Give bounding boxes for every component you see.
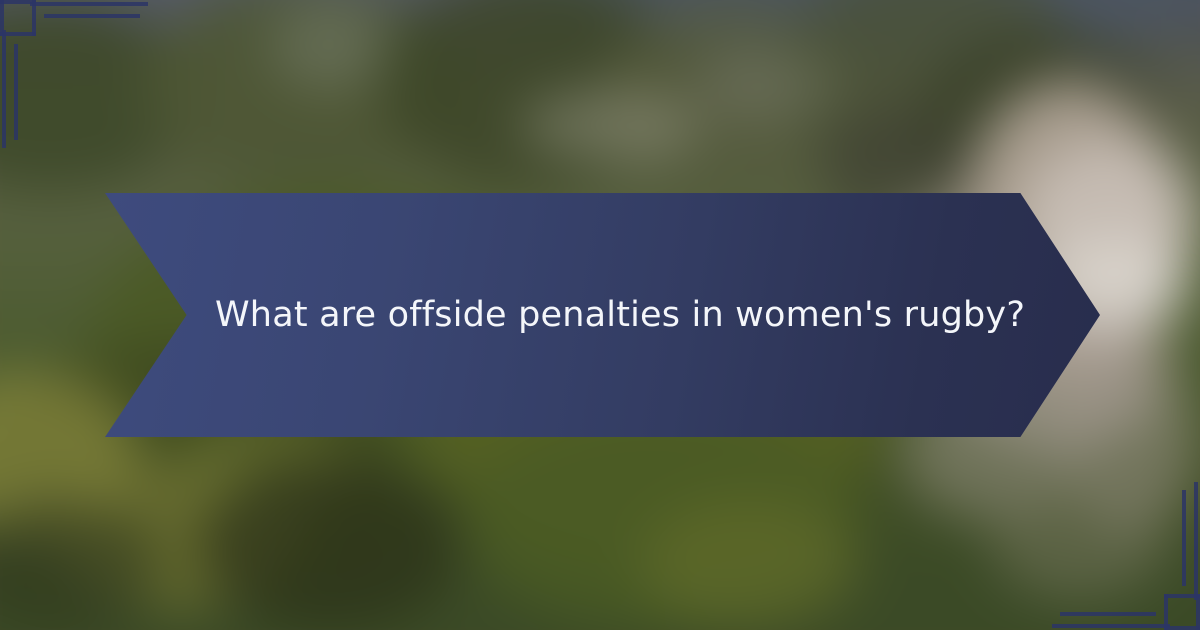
light-patch-1: [520, 90, 700, 160]
corner-bracket-top-left-icon: [0, 0, 160, 160]
foliage-highlight-4: [640, 500, 860, 630]
page-title: What are offside penalties in women's ru…: [215, 298, 1025, 333]
shadow-blob-1: [200, 460, 460, 630]
title-banner: What are offside penalties in women's ru…: [105, 193, 1100, 437]
light-patch-2: [270, 0, 390, 90]
corner-bracket-bottom-right-icon: [1040, 470, 1200, 630]
social-card: What are offside penalties in women's ru…: [0, 0, 1200, 630]
light-patch-3: [700, 50, 840, 120]
